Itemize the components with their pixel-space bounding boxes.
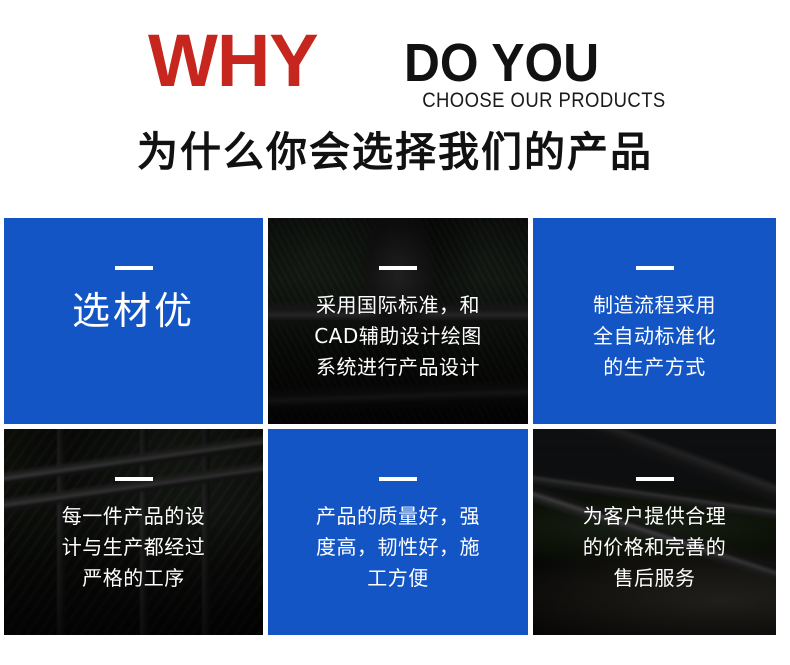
feature-card-6-text: 为客户提供合理 的价格和完善的 售后服务: [533, 501, 776, 594]
feature-card-5-line-3: 工方便: [268, 563, 528, 594]
feature-card-3[interactable]: 制造流程采用 全自动标准化 的生产方式: [533, 218, 776, 424]
feature-card-2-line-1: 采用国际标准，和: [268, 290, 528, 321]
divider-dash-icon: [379, 477, 417, 481]
divider-dash-icon: [636, 266, 674, 270]
feature-card-4-line-1: 每一件产品的设: [4, 501, 263, 532]
feature-card-3-line-2: 全自动标准化: [533, 321, 776, 352]
feature-card-5-line-1: 产品的质量好，强: [268, 501, 528, 532]
feature-card-3-line-3: 的生产方式: [533, 352, 776, 383]
feature-card-4-line-2: 计与生产都经过: [4, 532, 263, 563]
feature-card-1-inner: 选材优: [4, 218, 263, 424]
feature-card-3-line-1: 制造流程采用: [533, 290, 776, 321]
page-header: WHY DO YOU CHOOSE OUR PRODUCTS 为什么你会选择我们…: [0, 0, 790, 200]
feature-card-6-line-1: 为客户提供合理: [533, 501, 776, 532]
feature-card-4[interactable]: 每一件产品的设 计与生产都经过 严格的工序: [4, 429, 263, 635]
feature-card-5-inner: 产品的质量好，强 度高，韧性好，施 工方便: [268, 429, 528, 635]
subtitle-chinese: 为什么你会选择我们的产品: [0, 128, 790, 176]
feature-card-2-inner: 采用国际标准，和 CAD辅助设计绘图 系统进行产品设计: [268, 218, 528, 424]
divider-dash-icon: [379, 266, 417, 270]
feature-card-1[interactable]: 选材优: [4, 218, 263, 424]
divider-dash-icon: [115, 266, 153, 270]
divider-dash-icon: [115, 477, 153, 481]
feature-card-3-inner: 制造流程采用 全自动标准化 的生产方式: [533, 218, 776, 424]
feature-card-1-line-1: 选材优: [4, 286, 263, 336]
headline-do-you: DO YOU: [404, 36, 599, 90]
headline-row: WHY DO YOU: [0, 14, 790, 94]
feature-card-2-text: 采用国际标准，和 CAD辅助设计绘图 系统进行产品设计: [268, 290, 528, 383]
feature-grid: 选材优 采用国际标准，和 CAD辅助设计绘图 系统进行产品设计 制造流程采用 全…: [4, 218, 776, 640]
headline-why: WHY: [148, 24, 318, 98]
divider-dash-icon: [636, 477, 674, 481]
feature-card-6-line-3: 售后服务: [533, 563, 776, 594]
feature-card-2[interactable]: 采用国际标准，和 CAD辅助设计绘图 系统进行产品设计: [268, 218, 528, 424]
feature-card-5-text: 产品的质量好，强 度高，韧性好，施 工方便: [268, 501, 528, 594]
feature-card-5-line-2: 度高，韧性好，施: [268, 532, 528, 563]
feature-card-3-text: 制造流程采用 全自动标准化 的生产方式: [533, 290, 776, 383]
feature-card-2-line-3: 系统进行产品设计: [268, 352, 528, 383]
subtitle-english: CHOOSE OUR PRODUCTS: [423, 90, 666, 111]
feature-card-5[interactable]: 产品的质量好，强 度高，韧性好，施 工方便: [268, 429, 528, 635]
feature-card-4-line-3: 严格的工序: [4, 563, 263, 594]
feature-card-1-text: 选材优: [4, 286, 263, 336]
feature-card-6-line-2: 的价格和完善的: [533, 532, 776, 563]
feature-card-4-text: 每一件产品的设 计与生产都经过 严格的工序: [4, 501, 263, 594]
feature-card-4-inner: 每一件产品的设 计与生产都经过 严格的工序: [4, 429, 263, 635]
feature-card-6-inner: 为客户提供合理 的价格和完善的 售后服务: [533, 429, 776, 635]
feature-card-2-line-2: CAD辅助设计绘图: [268, 321, 528, 352]
feature-card-6[interactable]: 为客户提供合理 的价格和完善的 售后服务: [533, 429, 776, 635]
